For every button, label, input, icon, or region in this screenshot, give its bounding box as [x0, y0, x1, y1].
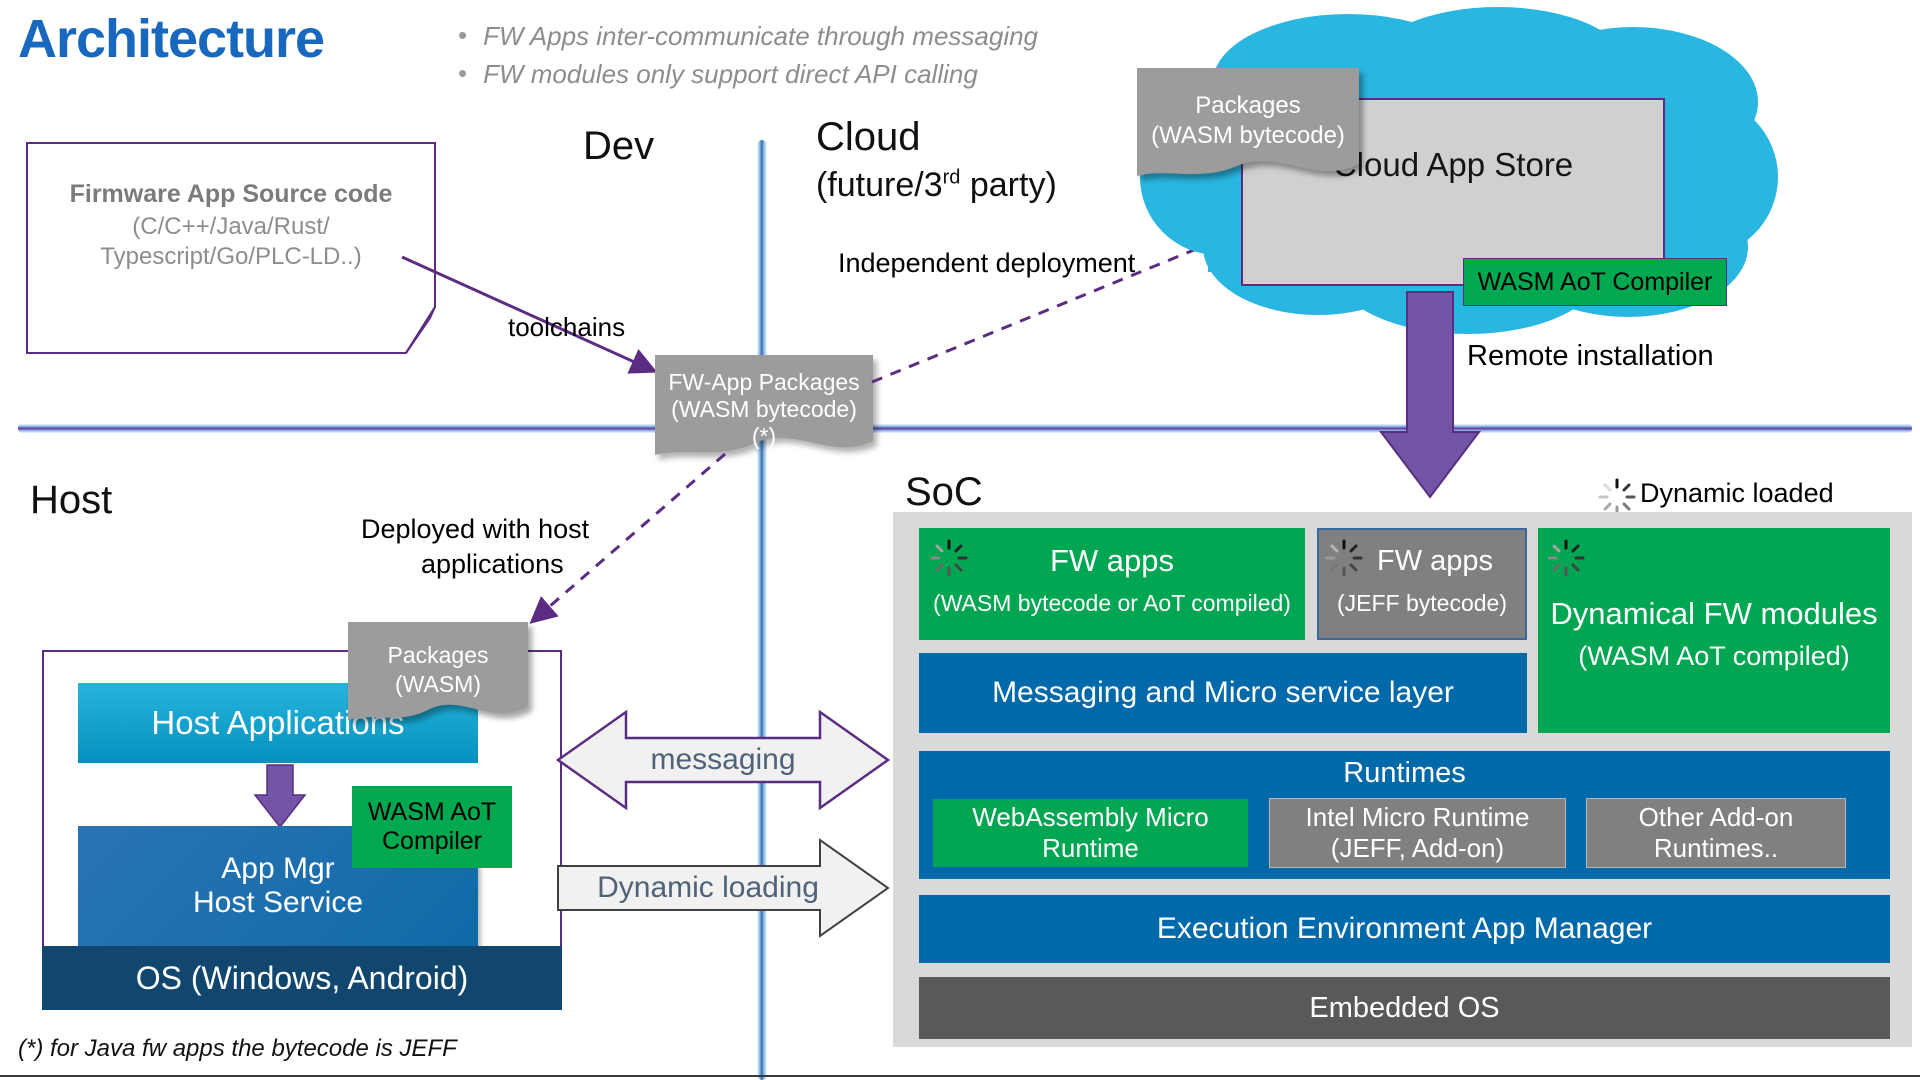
host-aot-compiler-line2: Compiler [382, 827, 482, 856]
soc-runtime-item: Other Add-on Runtimes.. [1586, 798, 1846, 868]
cloud-aot-compiler-box: WASM AoT Compiler [1463, 258, 1727, 306]
source-code-text: Firmware App Source code (C/C++/Java/Rus… [26, 160, 436, 290]
deployed-with-host-arrow [520, 450, 730, 630]
bullet-dot-icon: • [458, 58, 467, 88]
dynamic-loading-label: Dynamic loading [558, 868, 858, 908]
cloud-packages-text: Packages (WASM bytecode) [1137, 78, 1359, 164]
soc-fw-apps-wasm-title: FW apps [919, 541, 1305, 581]
soc-fw-apps-jeff-sub: (JEFF bytecode) [1317, 587, 1527, 619]
cloud-packages-line2: (WASM bytecode) [1151, 122, 1345, 150]
soc-messaging-layer-label: Messaging and Micro service layer [992, 676, 1454, 710]
soc-dynamic-modules-sub: (WASM AoT compiled) [1538, 638, 1890, 674]
remote-installation-label: Remote installation [1467, 340, 1714, 373]
messaging-label: messaging [558, 740, 888, 780]
bullet-list: • FW Apps inter-communicate through mess… [458, 20, 1078, 90]
horizontal-divider-left [18, 424, 758, 433]
host-packages-line1: Packages [387, 642, 488, 669]
list-item: • FW Apps inter-communicate through mess… [458, 20, 1078, 52]
soc-runtime-line1: Intel Micro Runtime [1306, 802, 1530, 833]
host-os-label: OS (Windows, Android) [136, 960, 469, 997]
host-app-mgr-line1: App Mgr [221, 852, 334, 886]
fw-app-packages-text: FW-App Packages (WASM bytecode) (*) [655, 366, 873, 452]
soc-app-manager-label: Execution Environment App Manager [1157, 912, 1652, 946]
soc-fw-apps-jeff-title: FW apps [1345, 541, 1525, 581]
source-code-line2: Typescript/Go/PLC-LD..) [100, 243, 361, 271]
host-internal-arrow [253, 765, 307, 829]
zone-label-cloud: Cloud [816, 115, 921, 160]
soc-dynamic-modules-title: Dynamical FW modules [1538, 594, 1890, 634]
source-code-title: Firmware App Source code [70, 180, 393, 209]
spinner-icon [1548, 540, 1584, 576]
soc-runtime-line2: Runtime [1042, 833, 1139, 864]
zone-label-soc: SoC [905, 470, 983, 515]
cloud-packages-line1: Packages [1195, 92, 1300, 120]
dynamic-loaded-spinner-icon [1598, 478, 1636, 516]
fw-app-packages-line1: FW-App Packages [668, 369, 859, 396]
bullet-text: FW Apps inter-communicate through messag… [483, 20, 1038, 52]
bottom-rule [0, 1075, 1920, 1077]
soc-runtime-line1: Other Add-on [1639, 802, 1794, 833]
soc-runtime-item: WebAssembly Micro Runtime [932, 798, 1249, 868]
zone-label-cloud-sub: (future/3rd party) [816, 166, 1057, 205]
bullet-dot-icon: • [458, 20, 467, 50]
footnote: (*) for Java fw apps the bytecode is JEF… [18, 1035, 457, 1063]
soc-runtime-item: Intel Micro Runtime (JEFF, Add-on) [1269, 798, 1566, 868]
remote-installation-arrow [1380, 292, 1490, 504]
page-title: Architecture [18, 8, 324, 70]
fw-app-packages-line3: (*) [752, 423, 776, 450]
fw-app-packages-line2: (WASM bytecode) [671, 396, 857, 423]
soc-runtime-line2: (JEFF, Add-on) [1331, 833, 1504, 864]
bullet-text: FW modules only support direct API calli… [483, 58, 978, 90]
dynamic-loaded-legend-label: Dynamic loaded [1640, 478, 1834, 509]
soc-messaging-layer-box: Messaging and Micro service layer [919, 653, 1527, 733]
zone-label-host: Host [30, 478, 112, 523]
soc-runtimes-title: Runtimes [919, 753, 1890, 793]
soc-runtime-line2: Runtimes.. [1654, 833, 1778, 864]
toolchains-label: toolchains [508, 312, 625, 343]
independent-deployment-label: Independent deployment [838, 248, 1135, 279]
host-packages-text: Packages (WASM) [348, 630, 528, 710]
soc-embedded-os-label: Embedded OS [1309, 992, 1499, 1025]
zone-label-dev: Dev [583, 124, 654, 169]
host-app-mgr-line2: Host Service [193, 886, 363, 920]
soc-app-manager-box: Execution Environment App Manager [919, 895, 1890, 963]
host-packages-line2: (WASM) [395, 671, 481, 698]
host-aot-compiler-box: WASM AoT Compiler [352, 786, 512, 868]
soc-embedded-os-box: Embedded OS [919, 977, 1890, 1039]
soc-fw-apps-wasm-sub: (WASM bytecode or AoT compiled) [919, 587, 1305, 619]
host-os-box: OS (Windows, Android) [42, 946, 562, 1010]
soc-runtime-line1: WebAssembly Micro [972, 802, 1208, 833]
source-code-line1: (C/C++/Java/Rust/ [132, 213, 329, 241]
list-item: • FW modules only support direct API cal… [458, 58, 1078, 90]
horizontal-divider-right [757, 424, 1912, 433]
host-aot-compiler-line1: WASM AoT [368, 798, 496, 827]
cloud-aot-compiler-label: WASM AoT Compiler [1478, 268, 1713, 297]
